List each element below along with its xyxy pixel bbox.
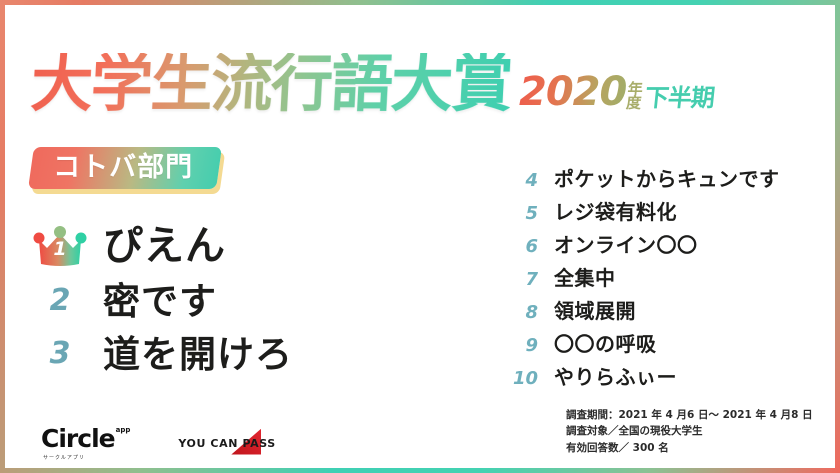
page-title: 大学生流行語大賞 <box>29 53 512 115</box>
ranking-number-7: 7 <box>502 271 538 289</box>
logo-row: Circle app サークルアプリ YOU CAN PASS <box>41 426 276 461</box>
survey-period: 調査期間：2021 年 4 月6 日〜 2021 年 4 月8 日 <box>566 407 836 423</box>
ranking-number-2: 2 <box>50 286 71 316</box>
you-can-pass-logo: YOU CAN PASS <box>178 427 275 461</box>
ranking-number-4: 4 <box>502 172 538 190</box>
ranking-number-9: 9 <box>502 337 538 355</box>
ranking-word-10: やりらふぃー <box>554 367 677 387</box>
year-suffix-do: 度 <box>626 96 643 110</box>
header: 大学生流行語大賞 2020 年 度 下半期 <box>31 23 825 115</box>
ranking-word-4: ポケットからキュンです <box>554 169 780 189</box>
year-block: 2020 年 度 下半期 <box>519 72 714 115</box>
ranking-number-5: 5 <box>502 205 538 223</box>
circle-logo-subtitle: サークルアプリ <box>43 454 85 461</box>
circle-logo-superscript: app <box>116 427 131 434</box>
ranking-word-1: ぴえん <box>103 226 226 266</box>
ranking-right-column: 4 ポケットからキュンです 5 レジ袋有料化 6 オンライン〇〇 7 全集中 8… <box>502 169 832 400</box>
ranking-row-5: 5 レジ袋有料化 <box>502 202 832 235</box>
ranking-word-5: レジ袋有料化 <box>554 202 677 222</box>
ranking-row-9: 9 〇〇の呼吸 <box>502 334 832 367</box>
slide-content: 大学生流行語大賞 2020 年 度 下半期 コトバ部門 <box>5 5 835 468</box>
ranking-number-8: 8 <box>502 304 538 322</box>
circle-app-logo: Circle app サークルアプリ <box>41 426 130 461</box>
crown-rank-number: 1 <box>32 240 88 259</box>
circle-logo-text: Circle <box>41 426 115 451</box>
crown-icon: 1 <box>32 224 88 268</box>
circle-logo-wordmark: Circle app <box>41 426 130 451</box>
ranking-word-8: 領域展開 <box>554 301 636 321</box>
ranking-word-2: 密です <box>103 283 217 320</box>
ranking-number-3: 3 <box>50 339 71 369</box>
survey-footnote: 調査期間：2021 年 4 月6 日〜 2021 年 4 月8 日 調査対象／全… <box>566 407 836 456</box>
ranking-row-2: 2 密です <box>29 275 459 327</box>
you-can-pass-text: YOU CAN PASS <box>178 438 275 449</box>
year-suffix: 年 度 <box>626 82 644 111</box>
category-badge-label: コトバ部門 <box>53 154 193 181</box>
rank-slot-1: 1 <box>29 224 91 268</box>
ranking-number-10: 10 <box>502 370 538 388</box>
half-year-label: 下半期 <box>644 86 716 110</box>
survey-responses: 有効回答数／ 300 名 <box>566 440 836 456</box>
slide-root: 大学生流行語大賞 2020 年 度 下半期 コトバ部門 <box>0 0 840 473</box>
ranking-left-column: 1 ぴえん 2 密です 3 道を開けろ <box>29 217 459 381</box>
ranking-word-6: オンライン〇〇 <box>554 235 698 255</box>
ranking-row-4: 4 ポケットからキュンです <box>502 169 832 202</box>
ranking-row-1: 1 ぴえん <box>29 217 459 275</box>
category-badge: コトバ部門 <box>28 147 222 189</box>
ranking-row-7: 7 全集中 <box>502 268 832 301</box>
survey-target: 調査対象／全国の現役大学生 <box>566 423 836 439</box>
ranking-row-3: 3 道を開けろ <box>29 327 459 381</box>
ranking-word-7: 全集中 <box>554 268 616 288</box>
ranking-word-3: 道を開けろ <box>103 336 293 373</box>
ranking-row-8: 8 領域展開 <box>502 301 832 334</box>
year-number: 2020 <box>519 72 626 112</box>
ranking-number-6: 6 <box>502 238 538 256</box>
ranking-row-6: 6 オンライン〇〇 <box>502 235 832 268</box>
rank-slot-2: 2 <box>29 286 91 316</box>
ranking-row-10: 10 やりらふぃー <box>502 367 832 400</box>
category-badge-wrapper: コトバ部門 <box>31 147 219 189</box>
ranking-word-9: 〇〇の呼吸 <box>554 334 657 354</box>
rank-slot-3: 3 <box>29 339 91 369</box>
